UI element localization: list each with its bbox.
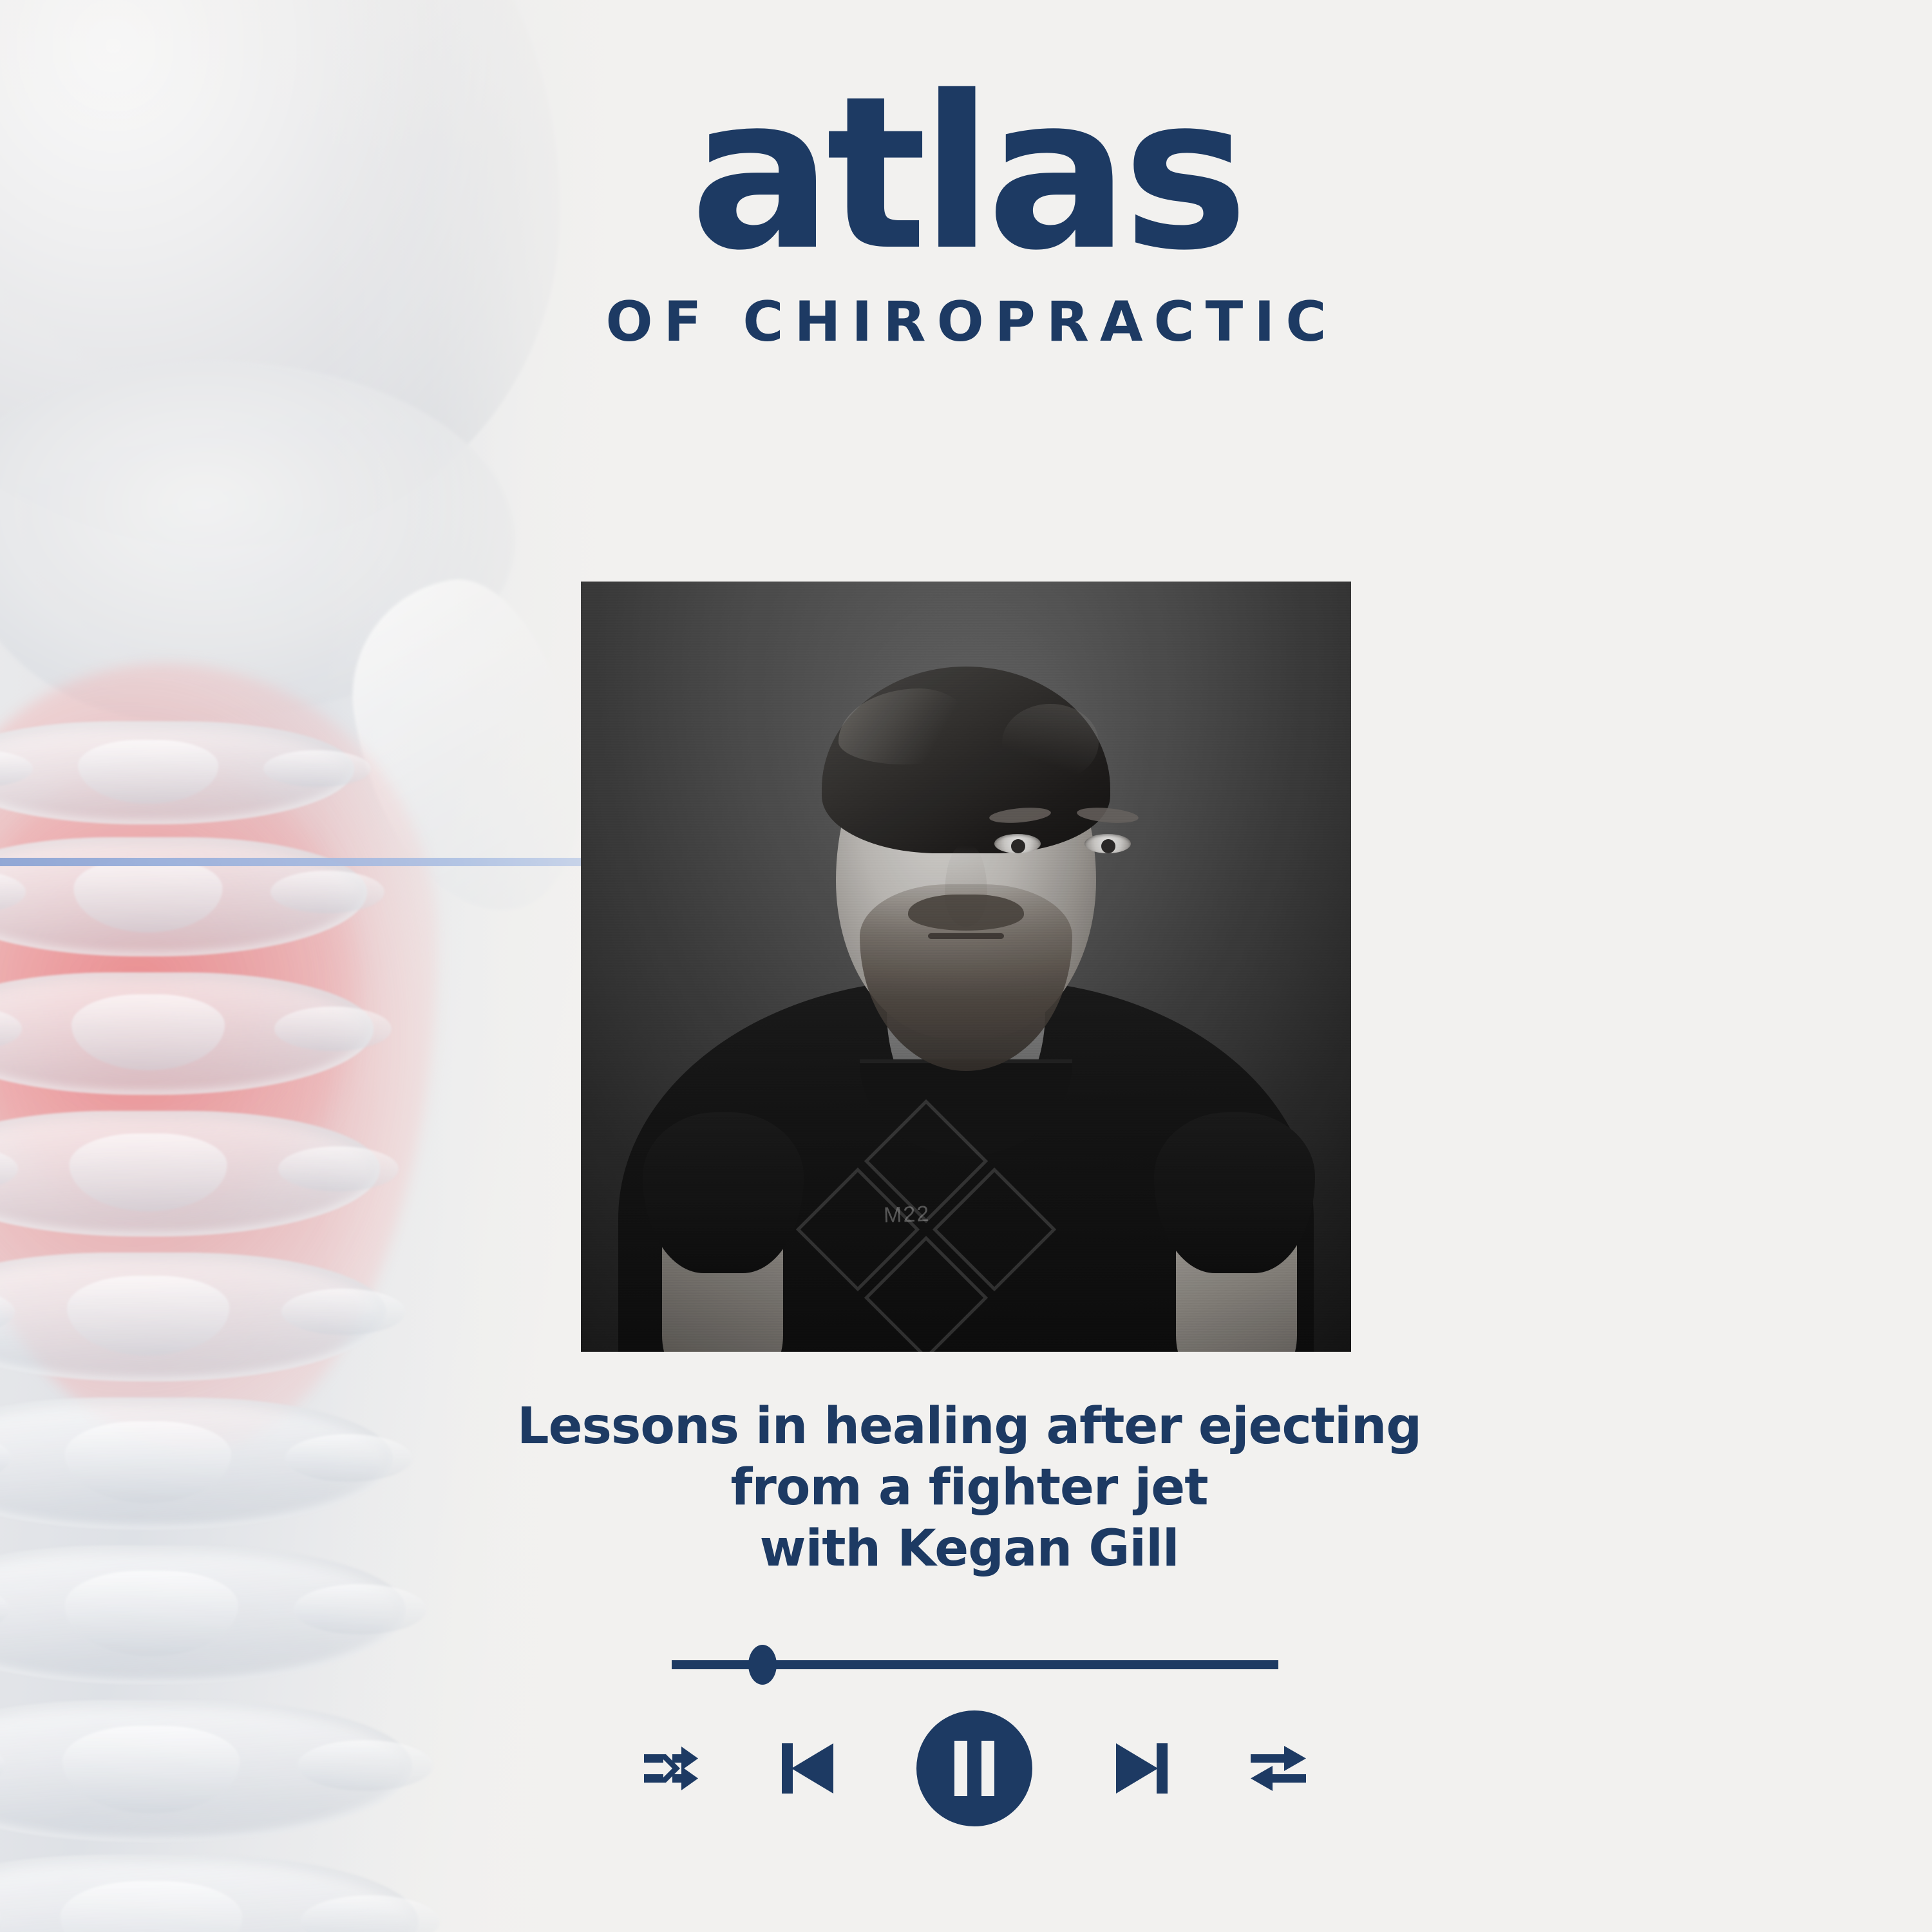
repeat-button[interactable] — [1251, 1745, 1306, 1792]
play-pause-button[interactable] — [916, 1710, 1032, 1826]
progress-thumb[interactable] — [748, 1645, 777, 1685]
next-track-button[interactable] — [1113, 1741, 1170, 1796]
photo-grain — [581, 582, 1351, 1352]
episode-title-line-2: from a fighter jet — [489, 1457, 1449, 1519]
brand-logo: atlas OF CHIROPRACTIC — [0, 84, 1932, 354]
pause-bar-right — [981, 1741, 994, 1796]
episode-title: Lessons in healing after ejecting from a… — [489, 1396, 1449, 1580]
guest-portrait-photo: M22 — [581, 582, 1351, 1352]
player-controls — [644, 1710, 1306, 1826]
brand-tagline: OF CHIROPRACTIC — [0, 290, 1932, 354]
previous-track-button[interactable] — [779, 1741, 836, 1796]
pause-bar-left — [954, 1741, 967, 1796]
audio-player — [672, 1660, 1278, 1669]
episode-title-line-1: Lessons in healing after ejecting — [489, 1396, 1449, 1457]
episode-title-line-3: with Kegan Gill — [489, 1519, 1449, 1580]
brand-wordmark: atlas — [0, 84, 1932, 265]
alignment-laser-line — [0, 858, 583, 866]
progress-bar[interactable] — [672, 1660, 1278, 1669]
podcast-episode-card: atlas OF CHIROPRACTIC M22 Lessons in hea… — [0, 0, 1932, 1932]
shuffle-button[interactable] — [644, 1744, 698, 1793]
